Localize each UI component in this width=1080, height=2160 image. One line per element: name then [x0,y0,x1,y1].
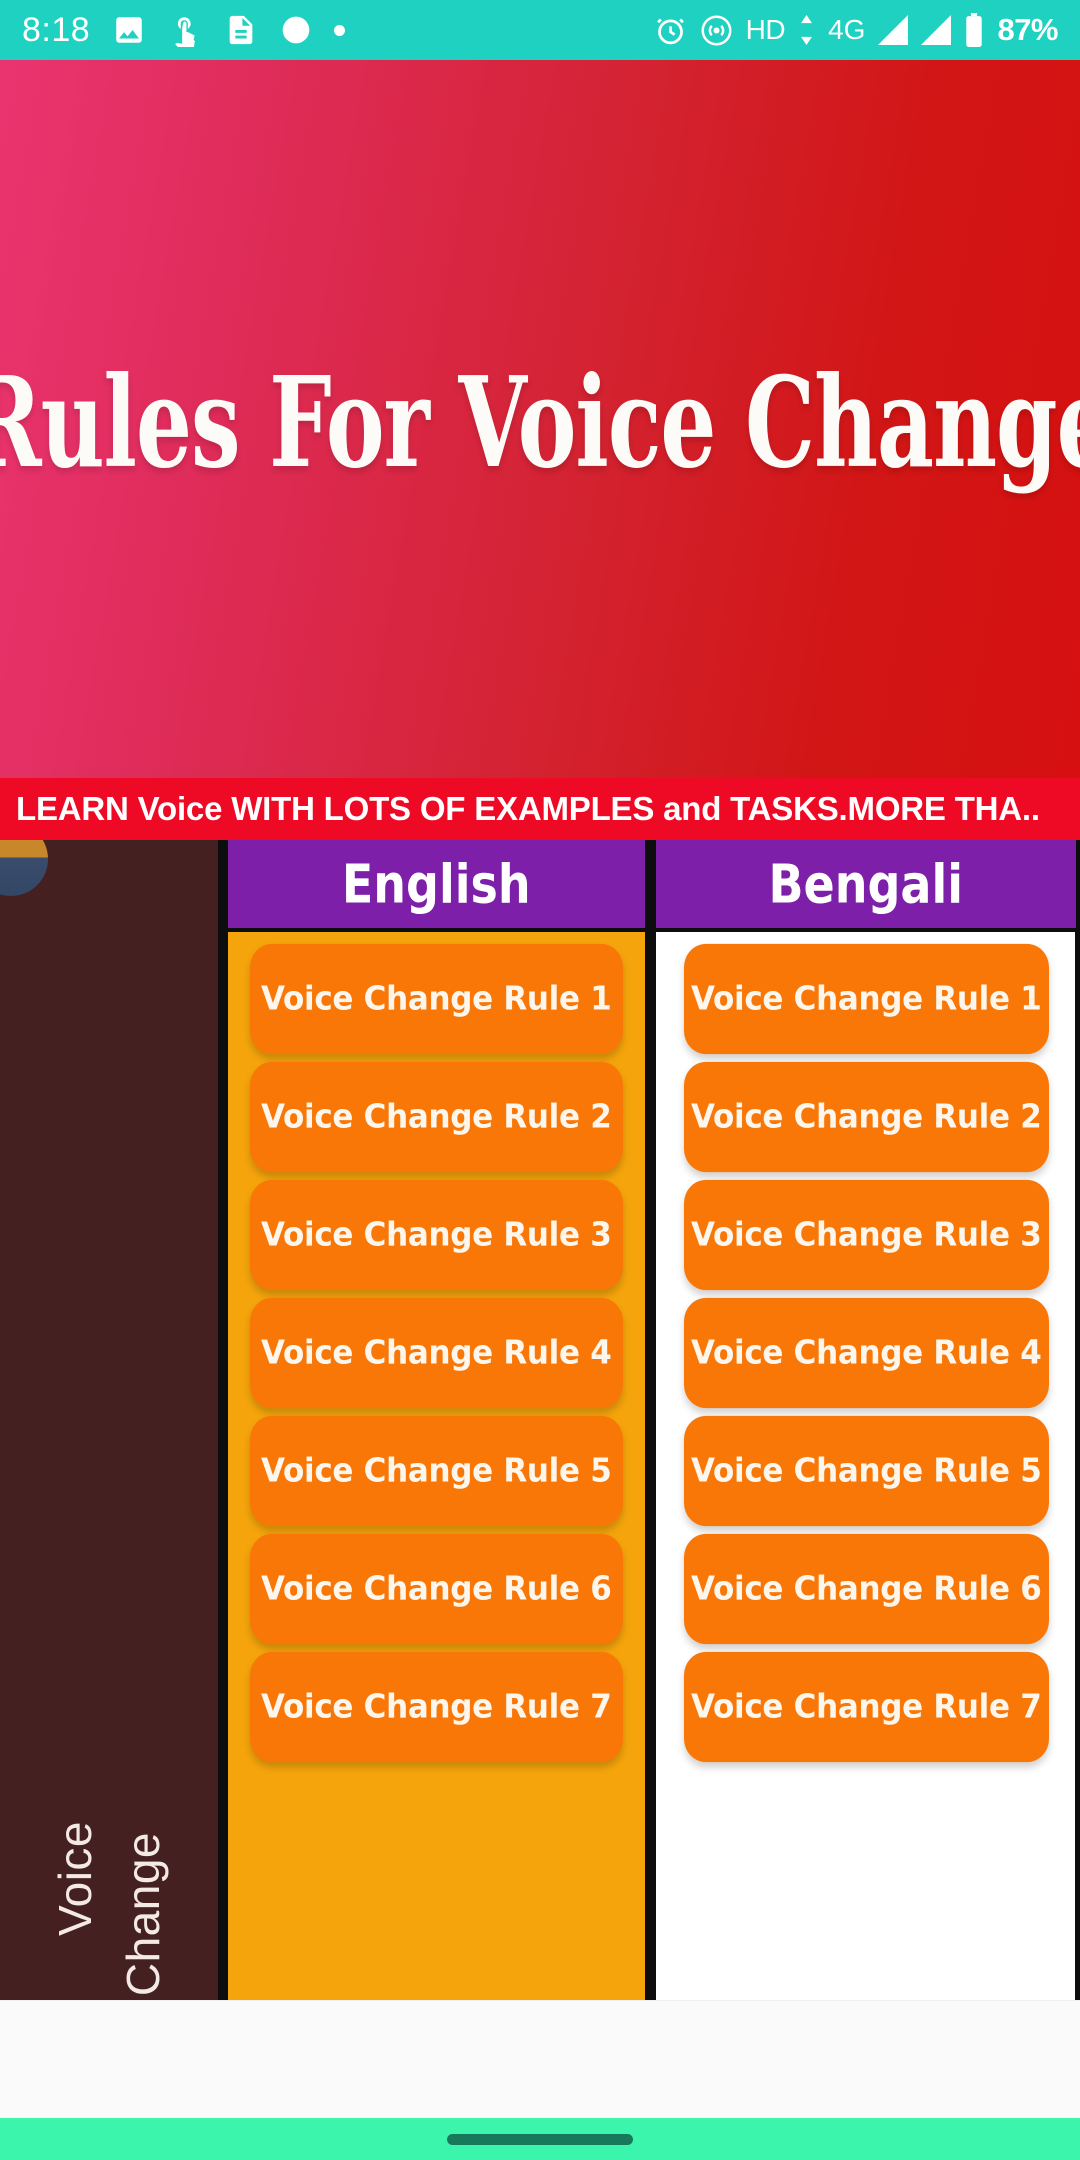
rule-button[interactable]: Voice Change Rule 7 [684,1652,1050,1762]
rule-button[interactable]: Voice Change Rule 4 [250,1298,623,1408]
rule-button[interactable]: Voice Change Rule 5 [250,1416,623,1526]
column-header-label: English [342,853,531,916]
column-body-english: Voice Change Rule 1 Voice Change Rule 2 … [224,932,649,2000]
alarm-icon [654,14,687,47]
hero-banner: Rules For Voice Change [0,60,1080,778]
data-transfer-arrows-icon [798,15,815,45]
column-header-english[interactable]: English [224,840,649,932]
bottom-spacer [0,2000,1080,2118]
system-navigation-bar [0,2118,1080,2160]
app-logo-icon [0,840,48,896]
rules-table: Voice Change English Voice Change Rule 1… [0,840,1080,2000]
column-body-bengali: Voice Change Rule 1 Voice Change Rule 2 … [656,932,1080,2000]
tap-gesture-icon [168,13,202,47]
signal-strength-icon-1 [878,15,908,45]
rule-button[interactable]: Voice Change Rule 5 [684,1416,1050,1526]
rule-button[interactable]: Voice Change Rule 7 [250,1652,623,1762]
column-english: English Voice Change Rule 1 Voice Change… [224,840,649,2000]
sidebar-vertical-title: Voice Change [0,1360,218,2000]
status-bar-clock: 8:18 [22,11,90,50]
sidebar-label-line-1: Voice [48,1821,102,1936]
sidebar-label-line-2: Change [116,1832,170,1996]
status-bar: 8:18 HD 4G 87% [0,0,1080,60]
status-bar-right-group: HD 4G 87% [654,12,1058,48]
home-indicator[interactable] [447,2134,633,2145]
document-icon [224,13,258,47]
circle-icon [280,14,312,46]
rule-button[interactable]: Voice Change Rule 1 [684,944,1050,1054]
rule-button[interactable]: Voice Change Rule 6 [250,1534,623,1644]
rule-button[interactable]: Voice Change Rule 2 [250,1062,623,1172]
rule-button[interactable]: Voice Change Rule 3 [250,1180,623,1290]
column-bengali: Bengali Voice Change Rule 1 Voice Change… [656,840,1080,2000]
column-header-label: Bengali [768,853,963,916]
page-title: Rules For Voice Change [0,348,1080,496]
rule-button[interactable]: Voice Change Rule 3 [684,1180,1050,1290]
sidebar: Voice Change [0,840,218,2000]
rule-button[interactable]: Voice Change Rule 1 [250,944,623,1054]
rule-button[interactable]: Voice Change Rule 2 [684,1062,1050,1172]
marquee-banner: LEARN Voice WITH LOTS OF EXAMPLES and TA… [0,778,1080,840]
marquee-text: LEARN Voice WITH LOTS OF EXAMPLES and TA… [0,790,1040,828]
hd-label: HD [746,14,785,46]
rule-button[interactable]: Voice Change Rule 4 [684,1298,1050,1408]
image-icon [112,13,146,47]
battery-percentage-label: 87% [997,12,1058,48]
battery-icon [964,13,984,47]
signal-strength-icon-2 [921,15,951,45]
column-header-bengali[interactable]: Bengali [656,840,1080,932]
small-dot-icon [334,25,345,36]
rule-button[interactable]: Voice Change Rule 6 [684,1534,1050,1644]
hotspot-icon [700,14,733,47]
status-bar-left-group: 8:18 [22,11,345,50]
network-type-label: 4G [828,14,865,46]
column-divider-right [649,840,656,2000]
